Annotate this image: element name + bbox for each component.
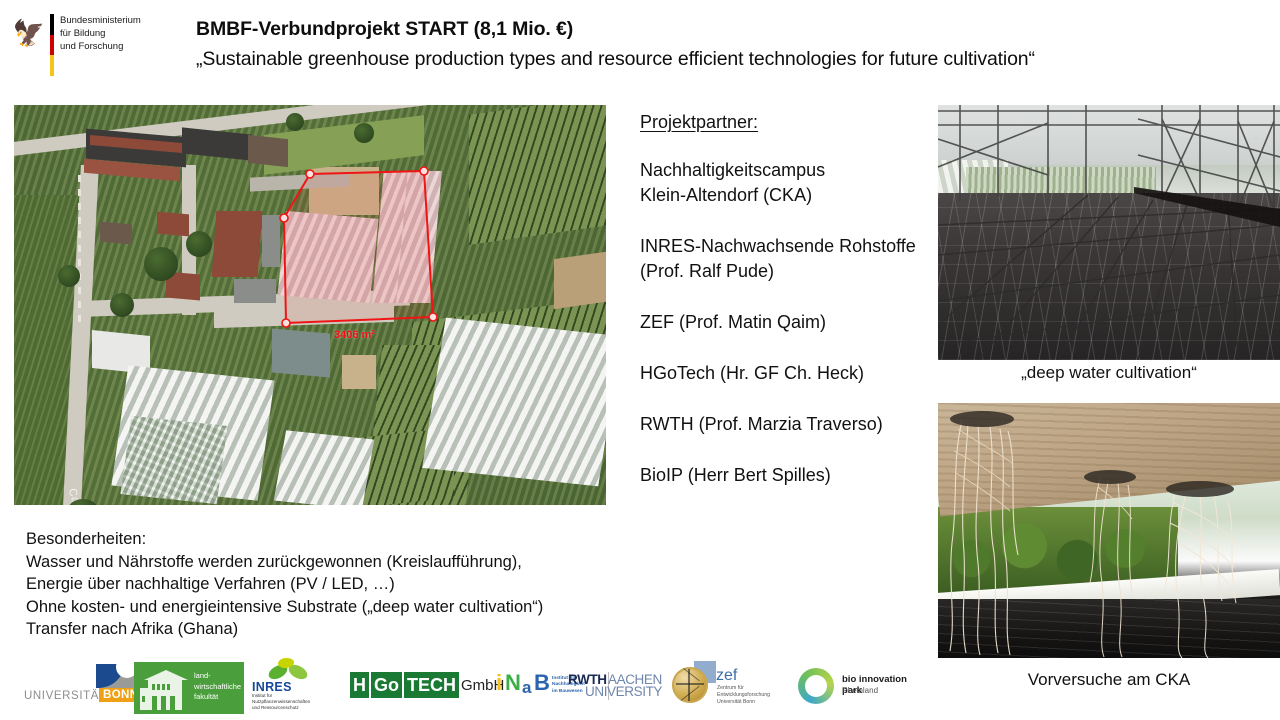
hgotech-logo: H Go TECH GmbH bbox=[350, 672, 504, 698]
faculty-building-icon bbox=[140, 670, 190, 710]
landwirtschaftliche-fakultaet-logo: land- wirtschaftliche fakultät bbox=[134, 662, 244, 714]
faculty-line-3: fakultät bbox=[194, 692, 241, 703]
tree-1 bbox=[58, 265, 80, 287]
faculty-name: land- wirtschaftliche fakultät bbox=[194, 671, 241, 703]
faculty-line-1: land- bbox=[194, 671, 241, 682]
building-main-3 bbox=[248, 135, 288, 167]
partner-item: HGoTech (Hr. GF Ch. Heck) bbox=[640, 361, 940, 386]
building-small-1 bbox=[157, 212, 189, 237]
greenhouse-deep-water-photo bbox=[938, 105, 1280, 360]
zef-title: zef bbox=[716, 667, 737, 685]
greenhouse-new-left bbox=[278, 211, 379, 303]
greenhouse-glass-bottom-left bbox=[121, 416, 228, 504]
material-yard bbox=[342, 355, 376, 389]
caption-deep-water: „deep water cultivation“ bbox=[938, 363, 1280, 383]
tree-6 bbox=[354, 123, 374, 143]
hgotech-block-2: Go bbox=[371, 672, 402, 698]
foil-tunnels-bottom bbox=[274, 430, 374, 505]
partner-logo-bar: UNIVERSITÄT BONN land- wirtschaftliche bbox=[0, 656, 930, 720]
partner-item: BioIP (Herr Bert Spilles) bbox=[640, 463, 940, 488]
partner-line: BioIP (Herr Bert Spilles) bbox=[640, 463, 940, 488]
features-line: Energie über nachhaltige Verfahren (PV /… bbox=[26, 573, 543, 596]
ministry-line-1: Bundesministerium bbox=[60, 14, 150, 27]
page-title: BMBF-Verbundprojekt START (8,1 Mio. €) bbox=[196, 16, 1266, 42]
dashed-path bbox=[78, 175, 81, 325]
area-measurement-label: 3406 m² bbox=[334, 329, 375, 341]
bare-soil-right bbox=[554, 251, 606, 309]
partner-item: ZEF (Prof. Matin Qaim) bbox=[640, 310, 940, 335]
zef-sub-line-1: Zentrum für bbox=[717, 685, 793, 692]
rwth-part-3: UNIVERSITY bbox=[585, 684, 662, 699]
rwth-aachen-logo: RWTH AACHEN UNIVERSITY bbox=[568, 672, 650, 702]
building-grey-hall bbox=[272, 328, 330, 377]
features-heading: Besonderheiten: bbox=[26, 528, 543, 551]
zef-sub-line-3: Universität Bonn bbox=[717, 699, 793, 706]
building-narrow-grey bbox=[262, 215, 280, 267]
tree-7 bbox=[286, 113, 304, 131]
ministry-line-3: und Forschung bbox=[60, 40, 150, 53]
partner-line: ZEF (Prof. Matin Qaim) bbox=[640, 310, 940, 335]
ministry-line-2: für Bildung bbox=[60, 27, 150, 40]
building-small-2 bbox=[100, 222, 132, 245]
orchard-top-right bbox=[469, 105, 606, 245]
features-line: Transfer nach Afrika (Ghana) bbox=[26, 618, 543, 641]
features-line: Ohne kosten- und energieintensive Substr… bbox=[26, 596, 543, 619]
features-block: Besonderheiten: Wasser und Nährstoffe we… bbox=[26, 528, 543, 641]
partner-item: INRES-Nachwachsende Rohstoffe (Prof. Ral… bbox=[640, 234, 940, 284]
zef-sub-line-2: Entwicklungsforschung bbox=[717, 692, 793, 699]
ministry-name: Bundesministerium für Bildung und Forsch… bbox=[60, 14, 150, 53]
faculty-line-2: wirtschaftliche bbox=[194, 682, 241, 693]
features-line: Wasser und Nährstoffe werden zurückgewon… bbox=[26, 551, 543, 574]
inab-letter-n: N bbox=[505, 672, 521, 694]
bio-innovation-park-logo: bio innovation park Rheinland bbox=[798, 662, 926, 712]
inres-sub-line-3: und Ressourcenschutz bbox=[252, 705, 336, 711]
inab-letter-a: a bbox=[522, 679, 531, 696]
page-subtitle: „Sustainable greenhouse production types… bbox=[196, 44, 1266, 74]
building-barn-red bbox=[212, 211, 263, 277]
inres-leaf-icon bbox=[266, 658, 310, 680]
hgotech-block-3: TECH bbox=[404, 672, 459, 698]
zef-subtitle: Zentrum für Entwicklungsforschung Univer… bbox=[717, 685, 793, 706]
partner-line: (Prof. Ralf Pude) bbox=[640, 259, 940, 284]
partner-line: HGoTech (Hr. GF Ch. Heck) bbox=[640, 361, 940, 386]
partner-line: Klein-Altendorf (CKA) bbox=[640, 183, 940, 208]
project-partners-block: Projektpartner: Nachhaltigkeitscampus Kl… bbox=[640, 112, 940, 488]
partner-line: RWTH (Prof. Marzia Traverso) bbox=[640, 412, 940, 437]
tree-4 bbox=[110, 293, 134, 317]
greenhouse-steel-frame bbox=[938, 105, 1280, 360]
bio-innovation-region: Rheinland bbox=[842, 686, 878, 695]
partner-item: Nachhaltigkeitscampus Klein-Altendorf (C… bbox=[640, 158, 940, 208]
slide-root: 🦅 Bundesministerium für Bildung und Fors… bbox=[0, 0, 1280, 720]
partners-heading: Projektpartner: bbox=[640, 112, 940, 133]
inres-title: INRES bbox=[252, 680, 292, 694]
inab-letter-b: B bbox=[534, 672, 550, 694]
zef-logo: zef Zentrum für Entwicklungsforschung Un… bbox=[672, 661, 792, 713]
german-flag-bar bbox=[50, 14, 54, 76]
hanging-roots bbox=[938, 403, 1280, 658]
bio-innovation-spiral-icon bbox=[798, 668, 834, 704]
bundesministerium-logo: 🦅 Bundesministerium für Bildung und Fors… bbox=[14, 12, 146, 74]
lettuce-roots-photo bbox=[938, 403, 1280, 658]
partner-item: RWTH (Prof. Marzia Traverso) bbox=[640, 412, 940, 437]
university-bonn-word: UNIVERSITÄT bbox=[24, 690, 107, 702]
inres-logo: INRES Institut für Nutzpflanzenwissensch… bbox=[252, 658, 334, 716]
zef-globe-icon bbox=[672, 667, 708, 703]
inres-subtitle: Institut für Nutzpflanzenwissenschaften … bbox=[252, 693, 336, 712]
greenhouse-complex-right bbox=[422, 318, 606, 486]
inab-letter-i: i bbox=[496, 672, 502, 694]
hgotech-block-1: H bbox=[350, 672, 369, 698]
tree-2 bbox=[144, 247, 178, 281]
tree-3 bbox=[186, 231, 212, 257]
title-block: BMBF-Verbundprojekt START (8,1 Mio. €) „… bbox=[196, 16, 1266, 74]
federal-eagle-icon: 🦅 bbox=[14, 16, 44, 50]
partner-line: INRES-Nachwachsende Rohstoffe bbox=[640, 234, 940, 259]
aerial-site-photo: Campus Klein-Altendorf bbox=[14, 105, 606, 505]
building-yard-grey bbox=[234, 279, 276, 303]
caption-vorversuche: Vorversuche am CKA bbox=[938, 670, 1280, 690]
partner-line: Nachhaltigkeitscampus bbox=[640, 158, 940, 183]
